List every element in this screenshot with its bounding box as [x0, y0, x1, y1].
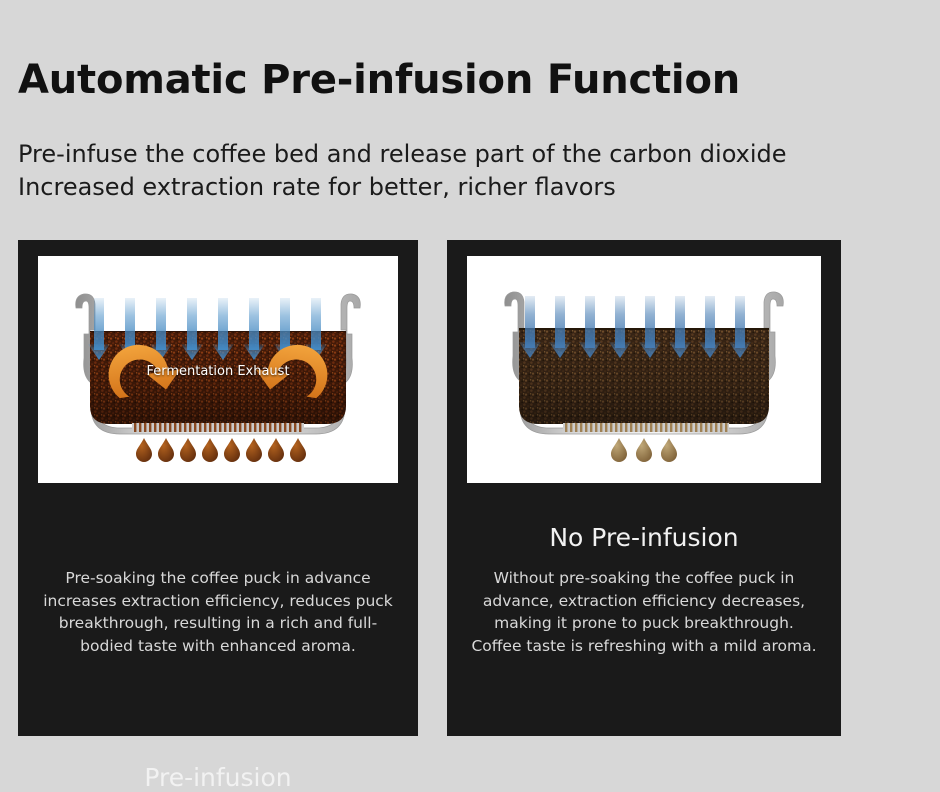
illustration-pre-infusion: Fermentation Exhaust [38, 256, 398, 483]
panel-heading-pre-infusion: Pre-infusion [18, 763, 418, 792]
subtitle-line-1: Pre-infuse the coffee bed and release pa… [18, 138, 787, 171]
page-root: Automatic Pre-infusion Function Pre-infu… [0, 0, 940, 791]
page-subtitle: Pre-infuse the coffee bed and release pa… [18, 138, 787, 204]
panel-body-pre-infusion: Pre-soaking the coffee puck in advance i… [40, 567, 396, 657]
portafilter-scene-no-pre-infusion [467, 256, 821, 483]
filter-holes-row-no-pre-infusion [563, 423, 729, 432]
filter-holes-row-pre-infusion [132, 423, 304, 432]
portafilter-diagram-icon [467, 256, 821, 483]
panel-body-no-pre-infusion: Without pre-soaking the coffee puck in a… [469, 567, 819, 657]
portafilter-scene-pre-infusion [38, 256, 398, 483]
coffee-drips-no-pre-infusion [611, 438, 677, 462]
panel-heading-no-pre-infusion: No Pre-infusion [447, 523, 841, 552]
panel-pre-infusion: Fermentation Exhaust Pre-infusion Pre-so… [18, 240, 418, 736]
subtitle-line-2: Increased extraction rate for better, ri… [18, 171, 787, 204]
illustration-no-pre-infusion [467, 256, 821, 483]
page-title: Automatic Pre-infusion Function [18, 57, 740, 103]
portafilter-diagram-icon [38, 256, 398, 483]
panel-no-pre-infusion: No Pre-infusion Without pre-soaking the … [447, 240, 841, 736]
